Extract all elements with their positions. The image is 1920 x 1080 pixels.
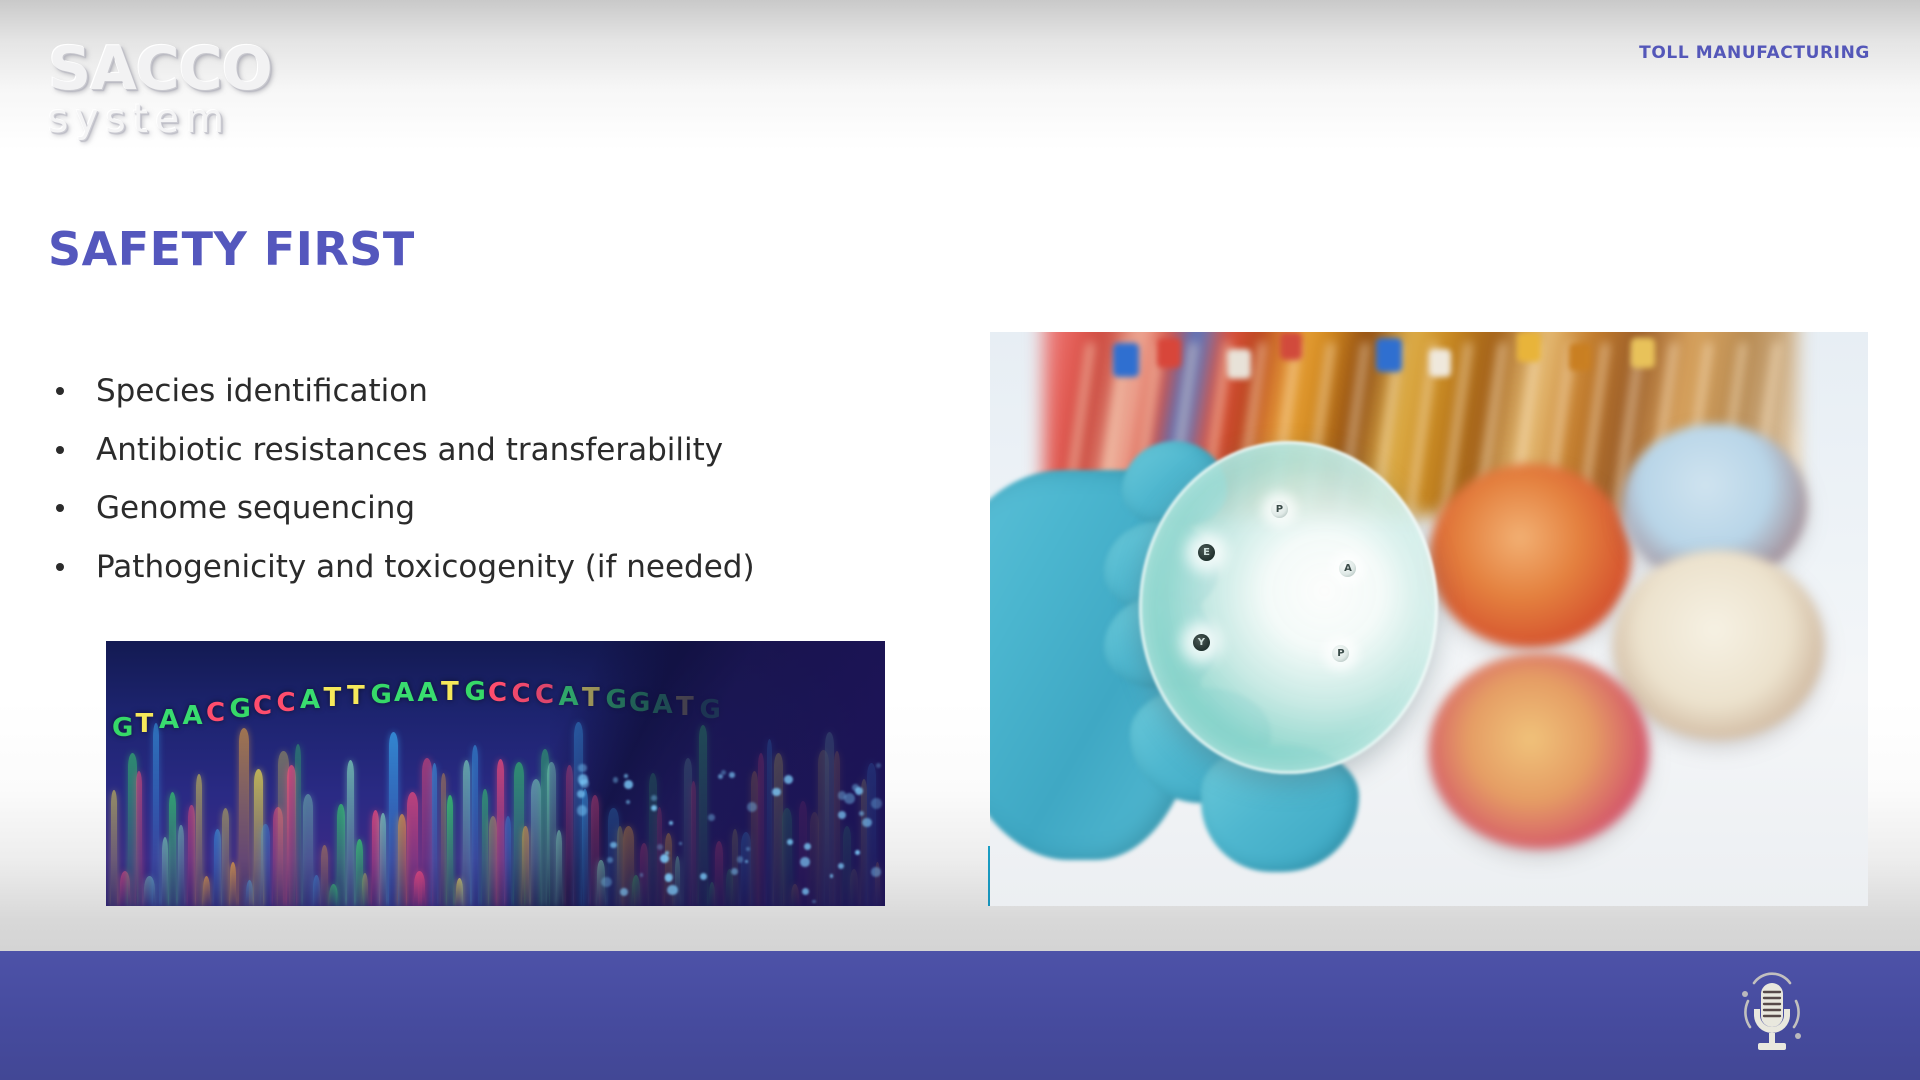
dna-base-letter: C — [277, 690, 296, 716]
dna-base-letter: A — [183, 703, 203, 729]
dna-base-letter: A — [394, 680, 414, 706]
dna-base-letter: T — [136, 711, 154, 737]
dna-peak — [531, 779, 541, 906]
dna-base-letter: C — [253, 693, 272, 719]
background-petri-dish — [1613, 550, 1824, 739]
agar-plate — [1139, 441, 1438, 774]
list-item: Pathogenicity and toxicogenity (if neede… — [48, 538, 948, 597]
antibiotic-disc: P — [1271, 501, 1288, 518]
dna-peak — [372, 810, 379, 906]
dna-peak — [214, 829, 222, 906]
dna-bokeh-dot — [729, 772, 735, 778]
dna-bokeh-dot — [747, 802, 757, 812]
dna-bokeh-dot — [784, 775, 793, 784]
dna-bokeh-dot — [624, 780, 633, 789]
dna-peak — [136, 771, 142, 906]
list-item: Antibiotic resistances and transferabili… — [48, 421, 948, 480]
dna-sequencing-image: GTAACGCCATTGAATGCCCATGGATG — [106, 641, 885, 906]
antibiotic-disc-label: P — [1271, 501, 1288, 518]
list-item: Species identification — [48, 362, 948, 421]
dna-peak — [178, 825, 184, 906]
test-tube-cap — [1631, 338, 1655, 368]
dna-peak — [111, 790, 117, 906]
dna-peak — [380, 813, 386, 906]
dna-base-letter: A — [418, 680, 438, 706]
dna-bokeh-dot — [787, 839, 793, 845]
list-item-label: Species identification — [96, 373, 428, 409]
dna-base-letter: G — [112, 715, 133, 741]
dna-peak — [153, 723, 159, 906]
dna-peak — [203, 876, 211, 906]
section-tag: TOLL MANUFACTURING — [1639, 43, 1870, 63]
dna-bokeh-dot — [708, 814, 715, 821]
dna-bokeh-dot — [624, 774, 628, 778]
test-tube-cap — [1429, 349, 1451, 377]
dna-bokeh-dot — [812, 900, 815, 903]
bullet-dot-icon — [56, 504, 64, 512]
dna-depth-veil — [550, 641, 885, 906]
footer-bar — [0, 951, 1920, 1080]
dna-peak — [422, 758, 432, 906]
dna-base-letter: T — [347, 683, 365, 709]
dna-peak — [239, 728, 249, 906]
antibiotic-disc-label: Y — [1193, 634, 1210, 651]
test-tube-cap — [1157, 338, 1181, 368]
dna-base-letter: C — [206, 700, 225, 726]
dna-peak — [337, 804, 345, 906]
dna-peak — [169, 792, 176, 906]
bullet-dot-icon — [56, 563, 64, 571]
dna-peak — [497, 759, 505, 906]
dna-peak — [162, 837, 168, 906]
antibiotic-disc: P — [1332, 645, 1349, 662]
dna-bokeh-dot — [577, 805, 588, 816]
test-tube-cap — [1227, 349, 1251, 379]
dna-peak — [261, 824, 270, 906]
dna-bokeh-dot — [859, 811, 864, 816]
dna-base-letter: G — [371, 682, 392, 708]
dna-peak — [447, 795, 454, 906]
antibiotic-disc-label: P — [1332, 645, 1349, 662]
test-tube-cap — [1376, 338, 1402, 372]
dna-peak — [463, 760, 470, 906]
antibiotic-disc-label: E — [1198, 544, 1215, 561]
dna-base-letter: C — [488, 680, 507, 706]
dna-peak — [398, 814, 406, 906]
dna-peak — [303, 794, 313, 906]
dna-peak — [295, 744, 301, 906]
dna-base-letter: T — [441, 679, 459, 705]
dna-peak — [456, 878, 463, 906]
dna-peak — [196, 774, 202, 906]
dna-peak — [347, 760, 354, 906]
dna-peak — [230, 862, 237, 906]
dna-base-letter: A — [300, 687, 320, 713]
sacco-system-logo: SACCO system — [48, 38, 318, 158]
dna-peak — [222, 808, 230, 906]
background-petri-dish — [1429, 464, 1631, 648]
dna-peak — [472, 745, 478, 906]
dna-bokeh-dot — [651, 805, 657, 811]
dna-peak — [482, 789, 488, 906]
list-item-label: Antibiotic resistances and transferabili… — [96, 432, 723, 468]
dna-base-letter: G — [230, 696, 251, 722]
dna-base-letter: T — [324, 685, 342, 711]
test-tube-cap — [1569, 343, 1591, 371]
bullet-dot-icon — [56, 446, 64, 454]
dna-bokeh-dot — [772, 788, 780, 796]
list-item-label: Pathogenicity and toxicogenity (if neede… — [96, 549, 755, 585]
page-title: SAFETY FIRST — [48, 222, 415, 276]
lab-petri-dish-image: PEAYP — [990, 332, 1868, 906]
dna-peak — [432, 763, 437, 906]
antibiotic-disc: A — [1339, 560, 1356, 577]
antibiotic-disc: E — [1198, 544, 1215, 561]
dna-peak — [321, 845, 328, 906]
dna-bokeh-dot — [871, 798, 882, 809]
antibiotic-disc: Y — [1193, 634, 1210, 651]
test-tube-cap — [1280, 332, 1302, 360]
bullet-list: Species identification Antibiotic resist… — [48, 362, 948, 596]
dna-bokeh-dot — [838, 791, 846, 799]
agar-plate-rim — [1139, 441, 1438, 774]
dna-base-letter: A — [159, 707, 179, 733]
dna-bokeh-dot — [871, 867, 881, 877]
bullet-dot-icon — [56, 387, 64, 395]
dna-base-letter: C — [512, 681, 531, 707]
dna-base-letter: G — [465, 679, 486, 705]
microphone-icon[interactable] — [1722, 965, 1822, 1065]
dna-peak — [188, 805, 194, 906]
dna-bokeh-dot — [804, 843, 811, 850]
logo-secondary-text: system — [48, 98, 318, 142]
dna-bokeh-dot — [651, 795, 657, 801]
dna-bokeh-dot — [667, 885, 678, 896]
dna-bokeh-dot — [862, 818, 872, 828]
dna-peak — [389, 732, 398, 906]
test-tube-cap — [1517, 332, 1541, 362]
list-item-label: Genome sequencing — [96, 490, 415, 526]
logo-primary-text: SACCO — [48, 38, 318, 100]
presentation-slide: SACCO system TOLL MANUFACTURING SAFETY F… — [0, 0, 1920, 1080]
dna-peak — [489, 816, 497, 906]
background-petri-dish — [1429, 653, 1649, 848]
dna-peak — [313, 875, 320, 906]
test-tube-cap — [1113, 343, 1139, 377]
dna-peak — [522, 826, 528, 906]
dna-bokeh-dot — [665, 874, 672, 881]
list-item: Genome sequencing — [48, 479, 948, 538]
dna-peak — [505, 816, 511, 906]
dna-bokeh-dot — [800, 857, 810, 867]
dna-peak — [441, 773, 447, 906]
dna-peak — [246, 880, 253, 906]
dna-bokeh-dot — [737, 856, 744, 863]
dna-bokeh-dot — [577, 790, 585, 798]
dna-bokeh-dot — [578, 764, 586, 772]
dna-bokeh-dot — [601, 877, 612, 888]
antibiotic-disc-label: A — [1339, 560, 1356, 577]
